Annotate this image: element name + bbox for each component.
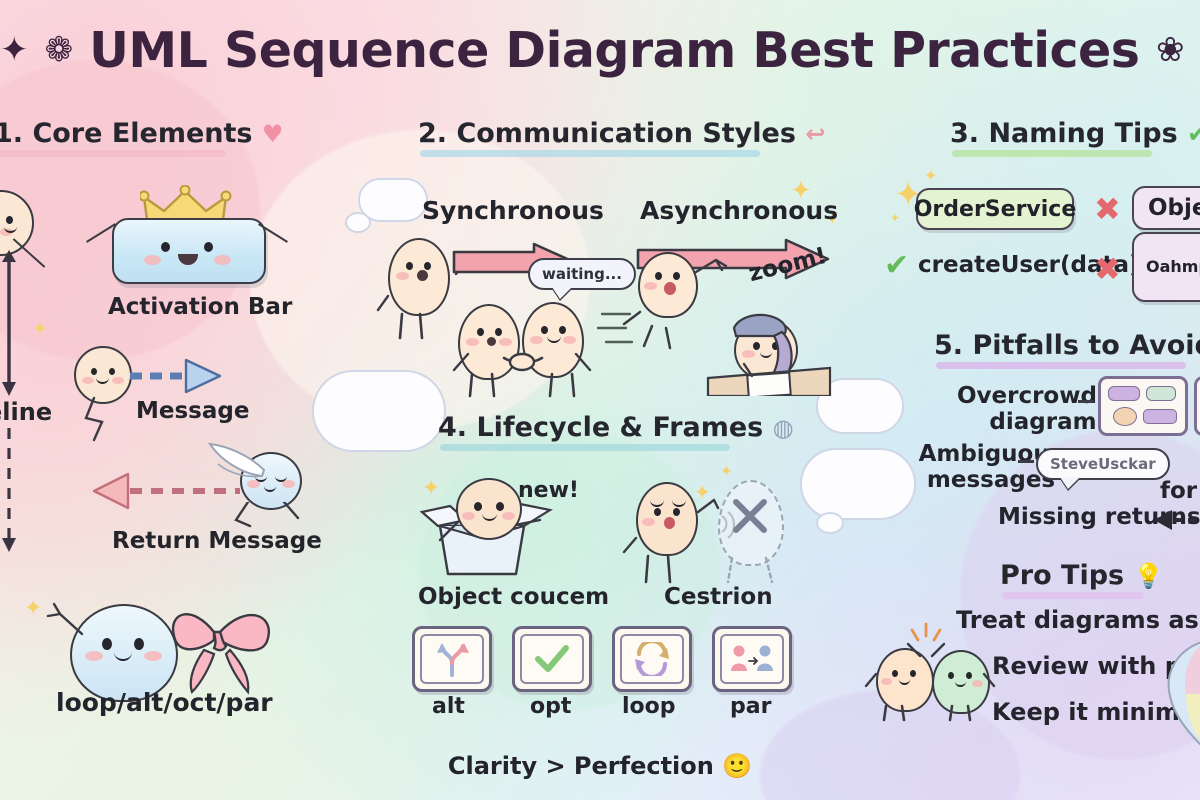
cheek-icon [82,377,94,384]
branching-arrows-icon [420,634,484,684]
message-actor-legs [72,396,122,444]
label-frames-core: loop/alt/oct/par [56,688,273,717]
refresh-loop-icon [620,634,684,684]
desk-scene [706,306,836,396]
check-mark-icon [520,634,584,684]
eye-icon [109,368,115,375]
label-object-creation: Object coucem [418,584,609,610]
section-underline-naming [952,150,1152,157]
section-underline-protips [1002,592,1144,599]
label-destruction: Cestrion [664,584,773,610]
frame-card-alt[interactable] [412,626,492,692]
overcrowded-card-1 [1098,376,1188,436]
label-activation-bar: Activation Bar [108,294,292,320]
frames-character-arm [44,600,88,648]
activation-bar-body [112,218,266,284]
eye-icon [161,242,170,252]
cheek-icon [214,255,231,265]
naming-bad-chip-object1[interactable]: Object1 [1132,186,1200,230]
mouth-icon [114,650,132,661]
sparkle-icon: ✦ [890,212,900,224]
high-five-icon [862,622,1002,722]
creation-character-arms [436,516,546,556]
sparkle-icon: ✦ [924,168,937,184]
naming-good-chip-orderservice[interactable]: OrderService [916,188,1074,230]
bomb-icon: ◍ [773,414,794,442]
page-title-text: UML Sequence Diagram Best Practices [89,22,1139,79]
footer-tagline: Clarity > Perfection 🙂 [0,752,1200,780]
frame-card-loop[interactable] [612,626,692,692]
red-x-icon: ✖ [1094,190,1121,228]
message-arrow-icon [128,356,224,396]
pitfall-dash-connector [1078,400,1094,403]
check-mark-icon: ✔ [1187,120,1200,148]
poster-canvas: ✦ ❁ UML Sequence Diagram Best Practices … [0,0,1200,800]
label-frame-par: par [730,694,771,719]
cloud-icon [816,512,844,534]
cheek-icon [144,255,161,265]
wings-icon [204,440,268,484]
section-heading-naming: 3. Naming Tips ✔ [950,118,1200,157]
naming-bad-chip-garbled[interactable]: Oahmpey Apathcro dataqata [1132,232,1200,302]
section-heading-communication: 2. Communication Styles ↩ [418,118,825,157]
pitfall-label-for-cutoff: for [1160,478,1197,504]
label-frame-alt: alt [432,694,465,719]
cherry-blossom-icon: ❀ [1156,30,1184,70]
eye-icon [204,242,213,252]
label-frame-opt: opt [530,694,571,719]
eye-icon [102,638,112,650]
pitfall-dash-connector [1018,460,1034,463]
page-title: ✦ ❁ UML Sequence Diagram Best Practices … [0,22,1200,79]
mouth-icon [4,224,17,233]
eye-icon [474,502,482,511]
eye-icon [134,638,144,650]
missing-returns-dashed-arrow-icon [1152,506,1200,536]
flower-icon: ❁ [45,30,73,70]
handshake-icon [448,330,596,398]
sparkle-icon: ✦ [0,30,28,70]
label-new-note: new! [518,478,579,503]
smiling-face-icon: 🙂 [722,752,752,780]
light-bulb-icon: 💡 [1134,562,1164,590]
label-frame-loop: loop [622,694,676,719]
label-lifeline: eline [0,398,52,426]
section-heading-naming-text: 3. Naming Tips [950,118,1178,149]
eye-icon [91,368,97,375]
sparkle-icon: ✦ [24,598,42,620]
lifeline-solid-arrow [0,248,28,398]
section-heading-pitfalls-text: 5. Pitfalls to Avoid [934,330,1200,361]
section-heading-core-text: 1. Core Elements [0,118,253,149]
two-people-icon [720,634,784,684]
section-heading-lifecycle: 4. Lifecycle & Frames ◍ [438,412,794,451]
cloud-icon [800,448,916,520]
lifeline-dashed-arrow [0,428,28,558]
section-underline-communication [420,150,760,157]
section-underline-pitfalls [936,362,1186,369]
ambiguous-message-bubble: SteveUsckar [1036,448,1170,480]
smile-icon [178,254,198,265]
label-message: Message [136,398,249,424]
bow-icon [168,598,284,702]
section-heading-protips-text: Pro Tips [1000,560,1124,591]
section-heading-pitfalls: 5. Pitfalls to Avoid ⚠ [934,330,1200,369]
section-heading-communication-text: 2. Communication Styles [418,118,796,149]
red-x-icon: ✖ [1094,250,1121,288]
heart-icon: ♥ [262,120,284,148]
cheek-icon [144,651,162,661]
label-return-message: Return Message [112,528,322,554]
frame-card-opt[interactable] [512,626,592,692]
cheek-icon [85,651,103,661]
frame-card-par[interactable] [712,626,792,692]
label-asynchronous: Asynchronous [640,196,838,225]
cloud-icon [345,212,371,233]
eye-icon [6,216,13,224]
rainbow-gem-icon [1162,638,1200,748]
cloud-icon [312,370,446,452]
section-underline-core [0,150,226,157]
cheek-icon [112,377,124,384]
mouth-icon [96,376,109,384]
counterclockwise-arrows-icon: ↩ [805,120,825,148]
section-heading-core: 1. Core Elements ♥ [0,118,283,157]
section-underline-lifecycle [440,444,730,451]
destruction-x-icon [730,496,770,536]
green-check-icon: ✔ [884,248,909,283]
section-heading-protips: Pro Tips 💡 [1000,560,1163,599]
eye-icon [496,502,504,511]
sparkle-icon: ✦ [32,320,48,339]
mouth-icon [264,484,276,492]
sparkle-icon: ✦ [720,464,733,479]
section-heading-lifecycle-text: 4. Lifecycle & Frames [438,412,763,443]
sparkle-icon: ✦ [422,478,440,500]
label-synchronous: Synchronous [422,196,604,225]
footer-text: Clarity > Perfection [448,752,714,780]
overcrowded-card-2 [1194,376,1200,436]
